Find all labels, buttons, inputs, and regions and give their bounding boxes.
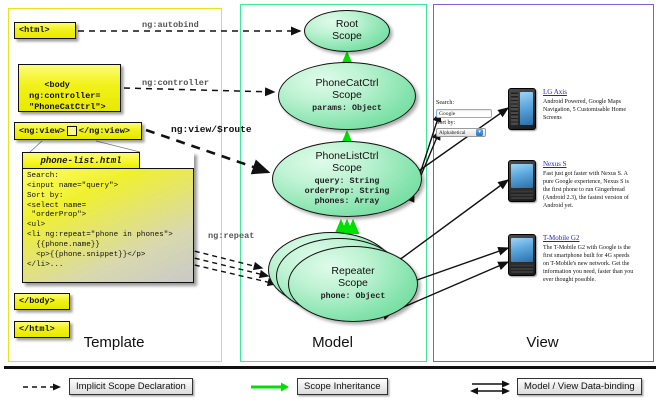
phone-name-link[interactable]: T-Mobile G2 [543, 234, 635, 242]
edge-label-controller: ng:controller [142, 78, 209, 88]
ngview-open-label: <ng:view> [19, 126, 65, 137]
legend-divider [4, 366, 656, 369]
scope-phonelistctrl-name1: PhoneListCtrl [315, 151, 378, 163]
body-close-tag-box: </body> [14, 293, 70, 310]
scope-phonelistctrl: PhoneListCtrl Scope query: String orderP… [272, 141, 422, 217]
view-search-controls: Search: Google Sort by: Alphabetical ▾ [436, 100, 498, 137]
ngview-tag-box: <ng:view></ng:view> [14, 122, 142, 140]
scope-root-name2: Scope [332, 31, 362, 43]
code-card-body: Search: <input name="query"> Sort by: <s… [22, 168, 194, 283]
scope-phonecatctrl-name2: Scope [332, 90, 362, 102]
legend-label-databinding: Model / View Data-binding [517, 378, 642, 395]
phone-thumbnail-icon [508, 88, 536, 130]
phone-snippet: Android Powered, Google Maps Navigation,… [543, 99, 635, 123]
search-label: Search: [436, 100, 498, 108]
phone-name-link[interactable]: Nexus S [543, 160, 635, 168]
edge-label-autobind: ng:autobind [142, 20, 199, 30]
edge-label-ngview-route: ng:view/$route [171, 124, 252, 135]
green-arrow-icon [250, 381, 290, 393]
scope-phonecatctrl-props: params: Object [312, 104, 382, 114]
diagram-stage: <html> <body ng:controller= "PhoneCatCtr… [0, 0, 660, 405]
phone-snippet: The T-Mobile G2 with Google is the first… [543, 245, 635, 285]
search-input[interactable]: Google [436, 109, 492, 118]
edge-label-ngrepeat: ng:repeat [208, 231, 254, 241]
scope-repeater-name2: Scope [338, 278, 368, 290]
chevron-down-icon: ▾ [476, 129, 483, 136]
html-tag-box: <html> [14, 22, 76, 39]
scope-phonecatctrl: PhoneCatCtrl Scope params: Object [278, 62, 416, 130]
scope-repeater-props: phone: Object [321, 292, 386, 302]
legend-data-binding: Model / View Data-binding [470, 378, 642, 395]
html-tag-label: <html> [19, 25, 50, 36]
sort-select-value: Alphabetical [439, 129, 466, 137]
phone-thumbnail-icon [508, 160, 536, 202]
dashed-arrow-icon [22, 381, 62, 393]
scope-repeater: Repeater Scope phone: Object [288, 246, 418, 322]
phone-list-item[interactable]: T-Mobile G2 The T-Mobile G2 with Google … [508, 234, 635, 285]
phone-list-item[interactable]: LG Axis Android Powered, Google Maps Nav… [508, 88, 635, 130]
legend-implicit-declaration: Implicit Scope Declaration [22, 378, 193, 395]
legend-label-implicit: Implicit Scope Declaration [69, 378, 193, 395]
legend-label-inheritance: Scope Inheritance [297, 378, 388, 395]
phone-snippet: Fast just got faster with Nexus S. A pur… [543, 171, 635, 211]
legend-scope-inheritance: Scope Inheritance [250, 378, 388, 395]
phone-list-item[interactable]: Nexus S Fast just got faster with Nexus … [508, 160, 635, 211]
sort-label: Sort by: [436, 120, 498, 128]
phone-thumbnail-icon [508, 234, 536, 276]
body-tag-label: <body ng:controller= "PhoneCatCtrl"> [24, 80, 106, 112]
sort-select[interactable]: Alphabetical ▾ [436, 128, 486, 137]
body-close-label: </body> [19, 296, 55, 307]
code-card-title: phone-list.html [22, 152, 140, 169]
panel-label-view: View [433, 334, 652, 351]
repeater-scope-stack: Repeater Scope phone: Object [268, 232, 426, 328]
body-tag-box: <body ng:controller= "PhoneCatCtrl"> [18, 64, 121, 112]
panel-label-model: Model [240, 334, 425, 351]
ngview-placeholder-icon [67, 126, 77, 136]
double-arrow-icon [470, 379, 510, 395]
panel-label-template: Template [8, 334, 220, 351]
scope-repeater-name1: Repeater [331, 266, 374, 278]
phone-name-link[interactable]: LG Axis [543, 88, 635, 96]
scope-phonelistctrl-props: query: String orderProp: String phones: … [305, 177, 390, 207]
scope-phonecatctrl-name1: PhoneCatCtrl [315, 78, 378, 90]
phone-list-code-card: phone-list.html Search: <input name="que… [22, 152, 194, 283]
scope-phonelistctrl-name2: Scope [332, 163, 362, 175]
ngview-close-label: </ng:view> [79, 126, 130, 137]
scope-root: Root Scope [304, 10, 390, 52]
